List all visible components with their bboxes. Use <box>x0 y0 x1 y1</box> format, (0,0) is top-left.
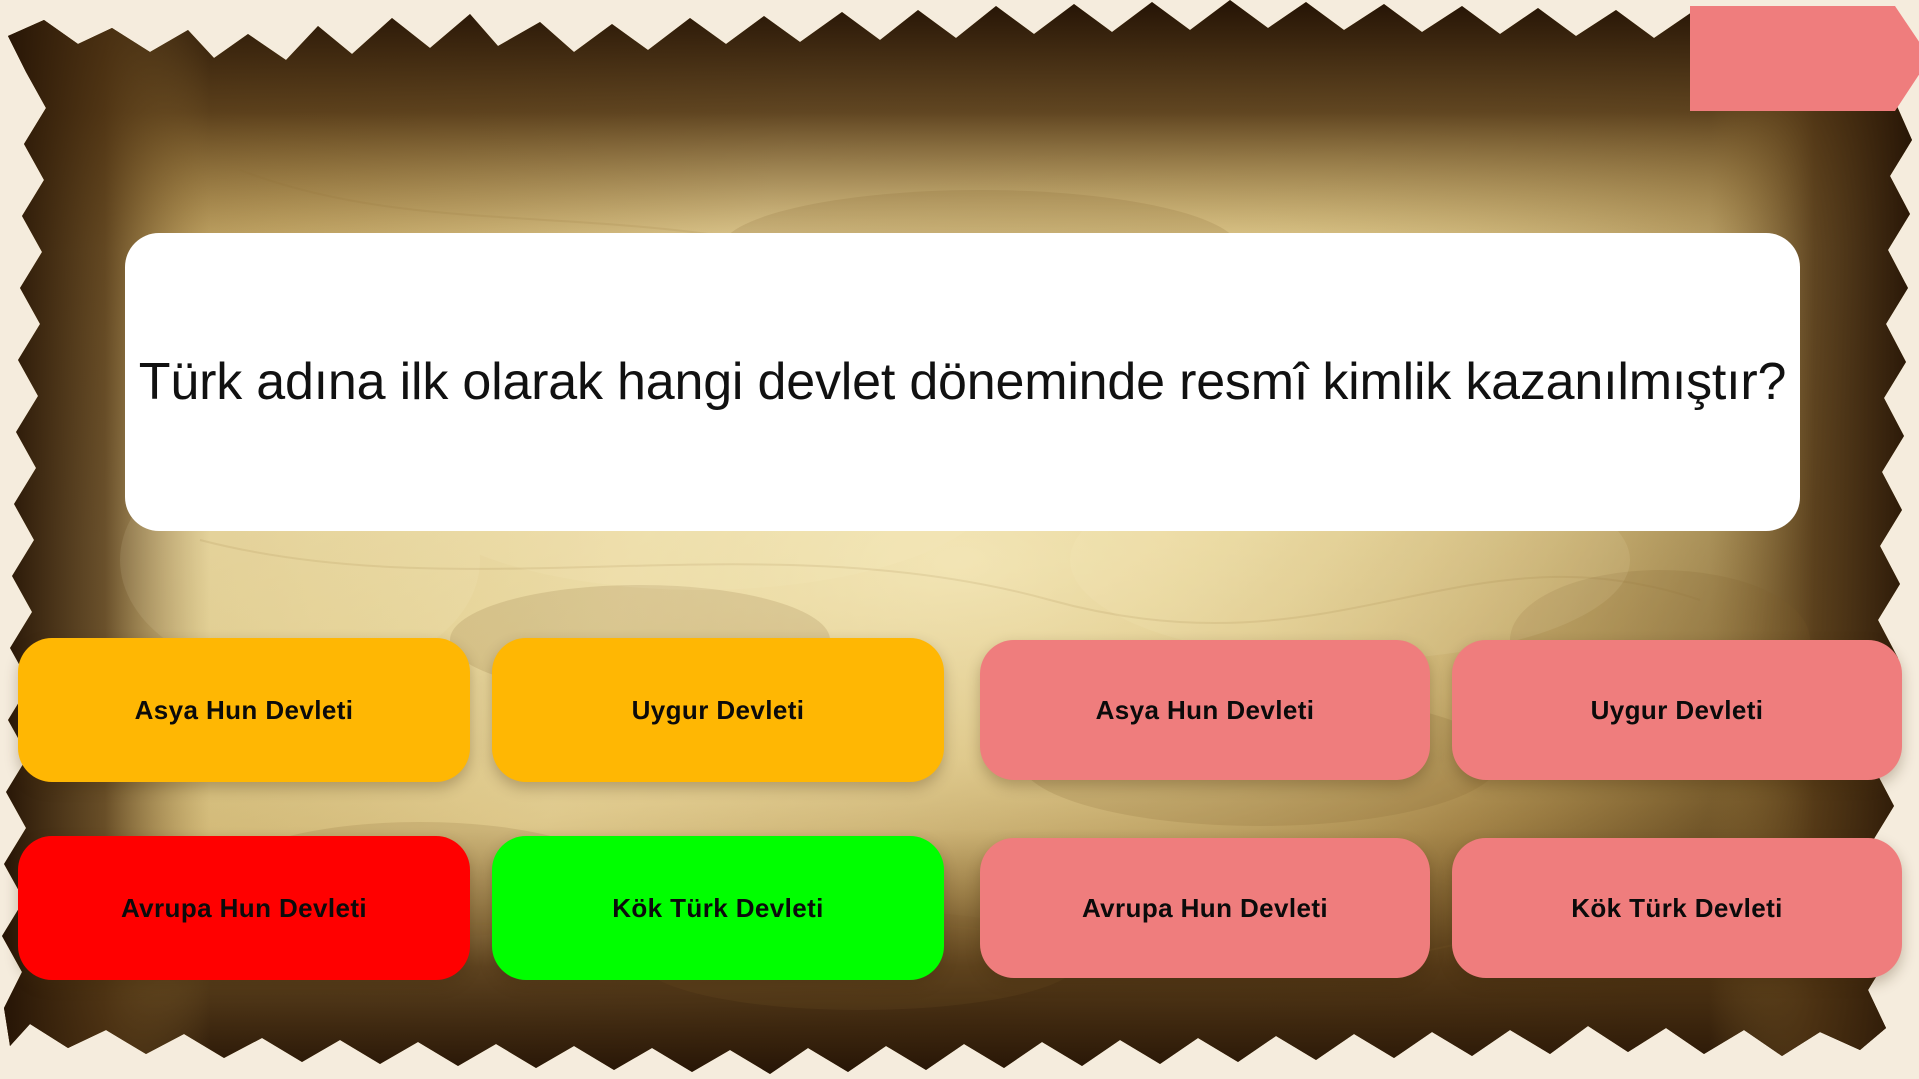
quiz-slide: Türk adına ilk olarak hangi devlet dönem… <box>0 0 1919 1079</box>
answer-button-player-b[interactable]: Uygur Devleti <box>492 638 944 782</box>
answer-button-player-a[interactable]: Asya Hun Devleti <box>18 638 470 782</box>
answer-button-opponent-a[interactable]: Asya Hun Devleti <box>980 640 1430 780</box>
answer-button-player-d[interactable]: Kök Türk Devleti <box>492 836 944 980</box>
answer-button-opponent-d[interactable]: Kök Türk Devleti <box>1452 838 1902 978</box>
answer-button-player-c[interactable]: Avrupa Hun Devleti <box>18 836 470 980</box>
answer-grid: Asya Hun Devleti Uygur Devleti Avrupa Hu… <box>0 638 1919 978</box>
score-tag <box>1690 6 1919 111</box>
answer-button-opponent-b[interactable]: Uygur Devleti <box>1452 640 1902 780</box>
answer-button-opponent-c[interactable]: Avrupa Hun Devleti <box>980 838 1430 978</box>
question-text: Türk adına ilk olarak hangi devlet dönem… <box>139 351 1786 413</box>
question-card: Türk adına ilk olarak hangi devlet dönem… <box>125 233 1800 531</box>
